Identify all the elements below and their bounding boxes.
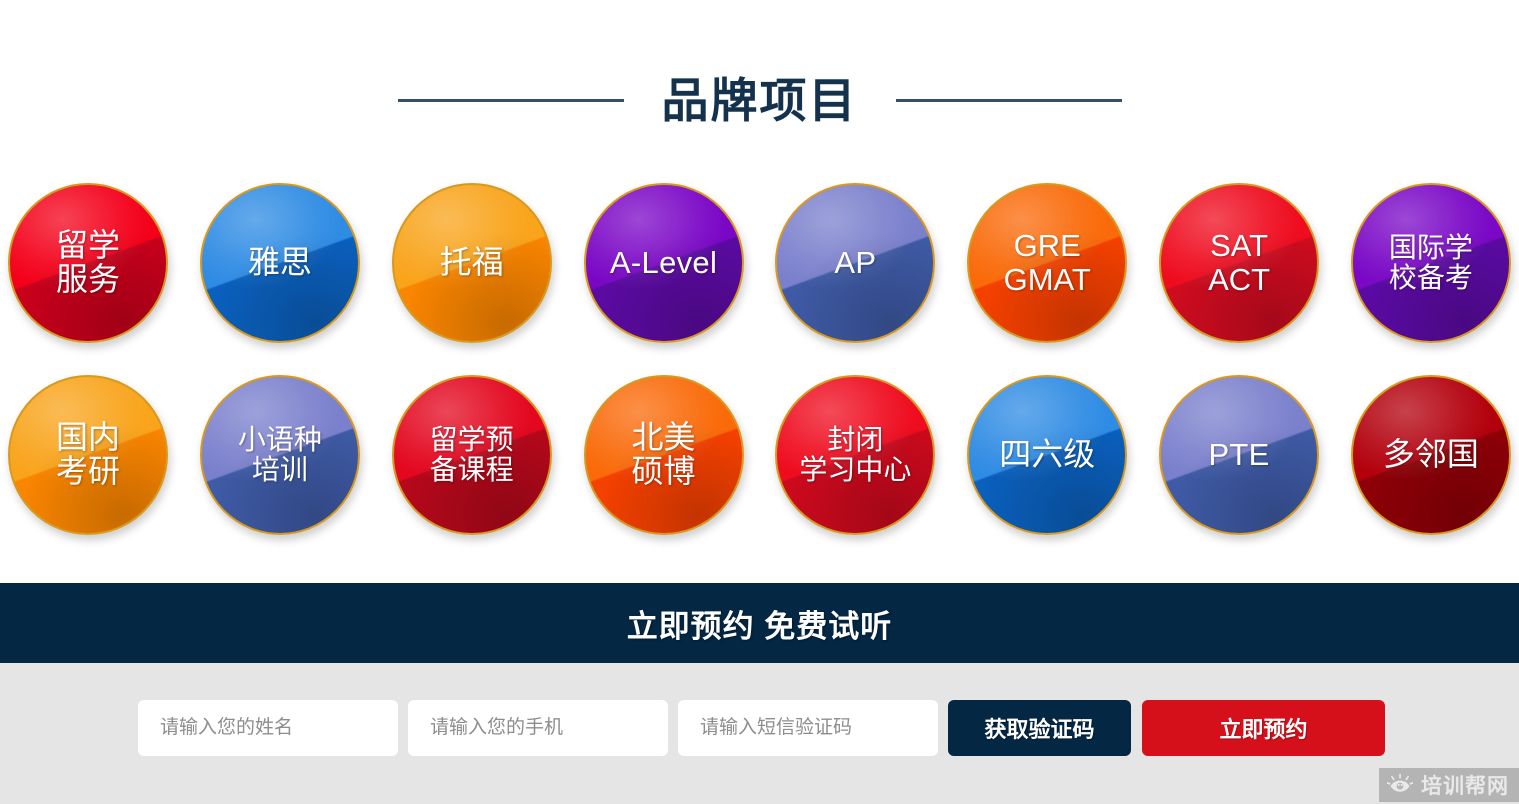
cta-banner: 立即预约 免费试听 bbox=[0, 583, 1519, 663]
program-bubble-label: AP bbox=[828, 247, 882, 280]
booking-form-strip: 获取验证码 立即预约 bbox=[0, 663, 1519, 804]
program-bubble-label: 留学预备课程 bbox=[424, 425, 520, 484]
program-bubble[interactable]: PTE bbox=[1159, 375, 1319, 535]
program-bubble[interactable]: 四六级 bbox=[967, 375, 1127, 535]
program-bubble[interactable]: 封闭学习中心 bbox=[775, 375, 935, 535]
watermark-label: 培训帮网 bbox=[1421, 770, 1509, 800]
brand-programs-page: 品牌项目 留学服务雅思托福A-LevelAPGREGMATSATACT国际学校备… bbox=[0, 0, 1519, 804]
program-bubble-label: 托福 bbox=[434, 246, 510, 280]
program-bubble-label: 国内考研 bbox=[50, 421, 126, 489]
program-label-line: A-Level bbox=[610, 247, 717, 280]
program-bubble[interactable]: SATACT bbox=[1159, 183, 1319, 343]
program-bubble-label: 四六级 bbox=[993, 438, 1101, 472]
program-bubble-label: GREGMAT bbox=[998, 229, 1097, 297]
program-grid: 留学服务雅思托福A-LevelAPGREGMATSATACT国际学校备考 国内考… bbox=[0, 183, 1519, 535]
program-label-line: 小语种 bbox=[238, 425, 322, 455]
program-label-line: 培训 bbox=[238, 455, 322, 485]
title-rule-left bbox=[398, 99, 624, 102]
program-label-line: GRE bbox=[1004, 229, 1091, 263]
program-bubble-label: 国际学校备考 bbox=[1383, 233, 1479, 292]
program-bubble-label: 小语种培训 bbox=[232, 425, 328, 484]
get-verification-code-button[interactable]: 获取验证码 bbox=[948, 700, 1131, 756]
program-label-line: AP bbox=[834, 247, 876, 280]
program-label-line: 考研 bbox=[56, 455, 120, 489]
program-bubble[interactable]: GREGMAT bbox=[967, 183, 1127, 343]
program-label-line: 国内 bbox=[56, 421, 120, 455]
program-bubble-label: 雅思 bbox=[242, 246, 318, 280]
title-rule-right bbox=[896, 99, 1122, 102]
program-label-line: 留学 bbox=[56, 229, 120, 263]
program-bubble-label: 北美硕博 bbox=[626, 421, 702, 489]
program-label-line: 学习中心 bbox=[799, 455, 911, 485]
program-bubble[interactable]: 国内考研 bbox=[8, 375, 168, 535]
program-label-line: SAT bbox=[1208, 229, 1270, 263]
section-title-row: 品牌项目 bbox=[0, 60, 1519, 140]
program-label-line: 留学预 bbox=[430, 425, 514, 455]
phone-input[interactable] bbox=[408, 700, 668, 756]
program-row-2: 国内考研小语种培训留学预备课程北美硕博封闭学习中心四六级PTE多邻国 bbox=[0, 375, 1519, 535]
site-watermark: 培训帮网 bbox=[1379, 768, 1519, 802]
program-bubble-label: A-Level bbox=[604, 247, 723, 280]
program-label-line: ACT bbox=[1208, 263, 1270, 297]
page-title: 品牌项目 bbox=[662, 77, 858, 124]
program-label-line: 多邻国 bbox=[1383, 438, 1479, 472]
program-bubble[interactable]: 雅思 bbox=[200, 183, 360, 343]
program-bubble-label: 多邻国 bbox=[1377, 438, 1485, 472]
name-input[interactable] bbox=[138, 700, 398, 756]
program-bubble[interactable]: 留学预备课程 bbox=[392, 375, 552, 535]
cta-banner-text: 立即预约 免费试听 bbox=[627, 601, 893, 646]
program-label-line: 北美 bbox=[632, 421, 696, 455]
program-label-line: GMAT bbox=[1004, 263, 1091, 297]
program-label-line: 四六级 bbox=[999, 438, 1095, 472]
program-label-line: 备课程 bbox=[430, 455, 514, 485]
program-bubble-label: SATACT bbox=[1202, 229, 1276, 297]
program-bubble-label: 封闭学习中心 bbox=[793, 425, 917, 484]
program-row-1: 留学服务雅思托福A-LevelAPGREGMATSATACT国际学校备考 bbox=[0, 183, 1519, 343]
program-label-line: 国际学 bbox=[1389, 233, 1473, 263]
program-label-line: 托福 bbox=[440, 246, 504, 280]
program-label-line: 封闭 bbox=[799, 425, 911, 455]
program-label-line: 雅思 bbox=[248, 246, 312, 280]
program-bubble-label: PTE bbox=[1202, 439, 1275, 472]
program-bubble[interactable]: A-Level bbox=[584, 183, 744, 343]
sms-code-input[interactable] bbox=[678, 700, 938, 756]
submit-booking-button[interactable]: 立即预约 bbox=[1142, 700, 1385, 756]
program-label-line: PTE bbox=[1208, 439, 1269, 472]
program-bubble[interactable]: 留学服务 bbox=[8, 183, 168, 343]
program-bubble[interactable]: AP bbox=[775, 183, 935, 343]
program-bubble[interactable]: 小语种培训 bbox=[200, 375, 360, 535]
program-label-line: 校备考 bbox=[1389, 263, 1473, 293]
program-label-line: 硕博 bbox=[632, 455, 696, 489]
booking-form: 获取验证码 立即预约 bbox=[138, 700, 1385, 756]
program-bubble[interactable]: 托福 bbox=[392, 183, 552, 343]
eye-sun-icon bbox=[1387, 773, 1413, 797]
program-bubble[interactable]: 多邻国 bbox=[1351, 375, 1511, 535]
program-bubble[interactable]: 北美硕博 bbox=[584, 375, 744, 535]
program-bubble[interactable]: 国际学校备考 bbox=[1351, 183, 1511, 343]
program-bubble-label: 留学服务 bbox=[50, 229, 126, 297]
program-label-line: 服务 bbox=[56, 263, 120, 297]
